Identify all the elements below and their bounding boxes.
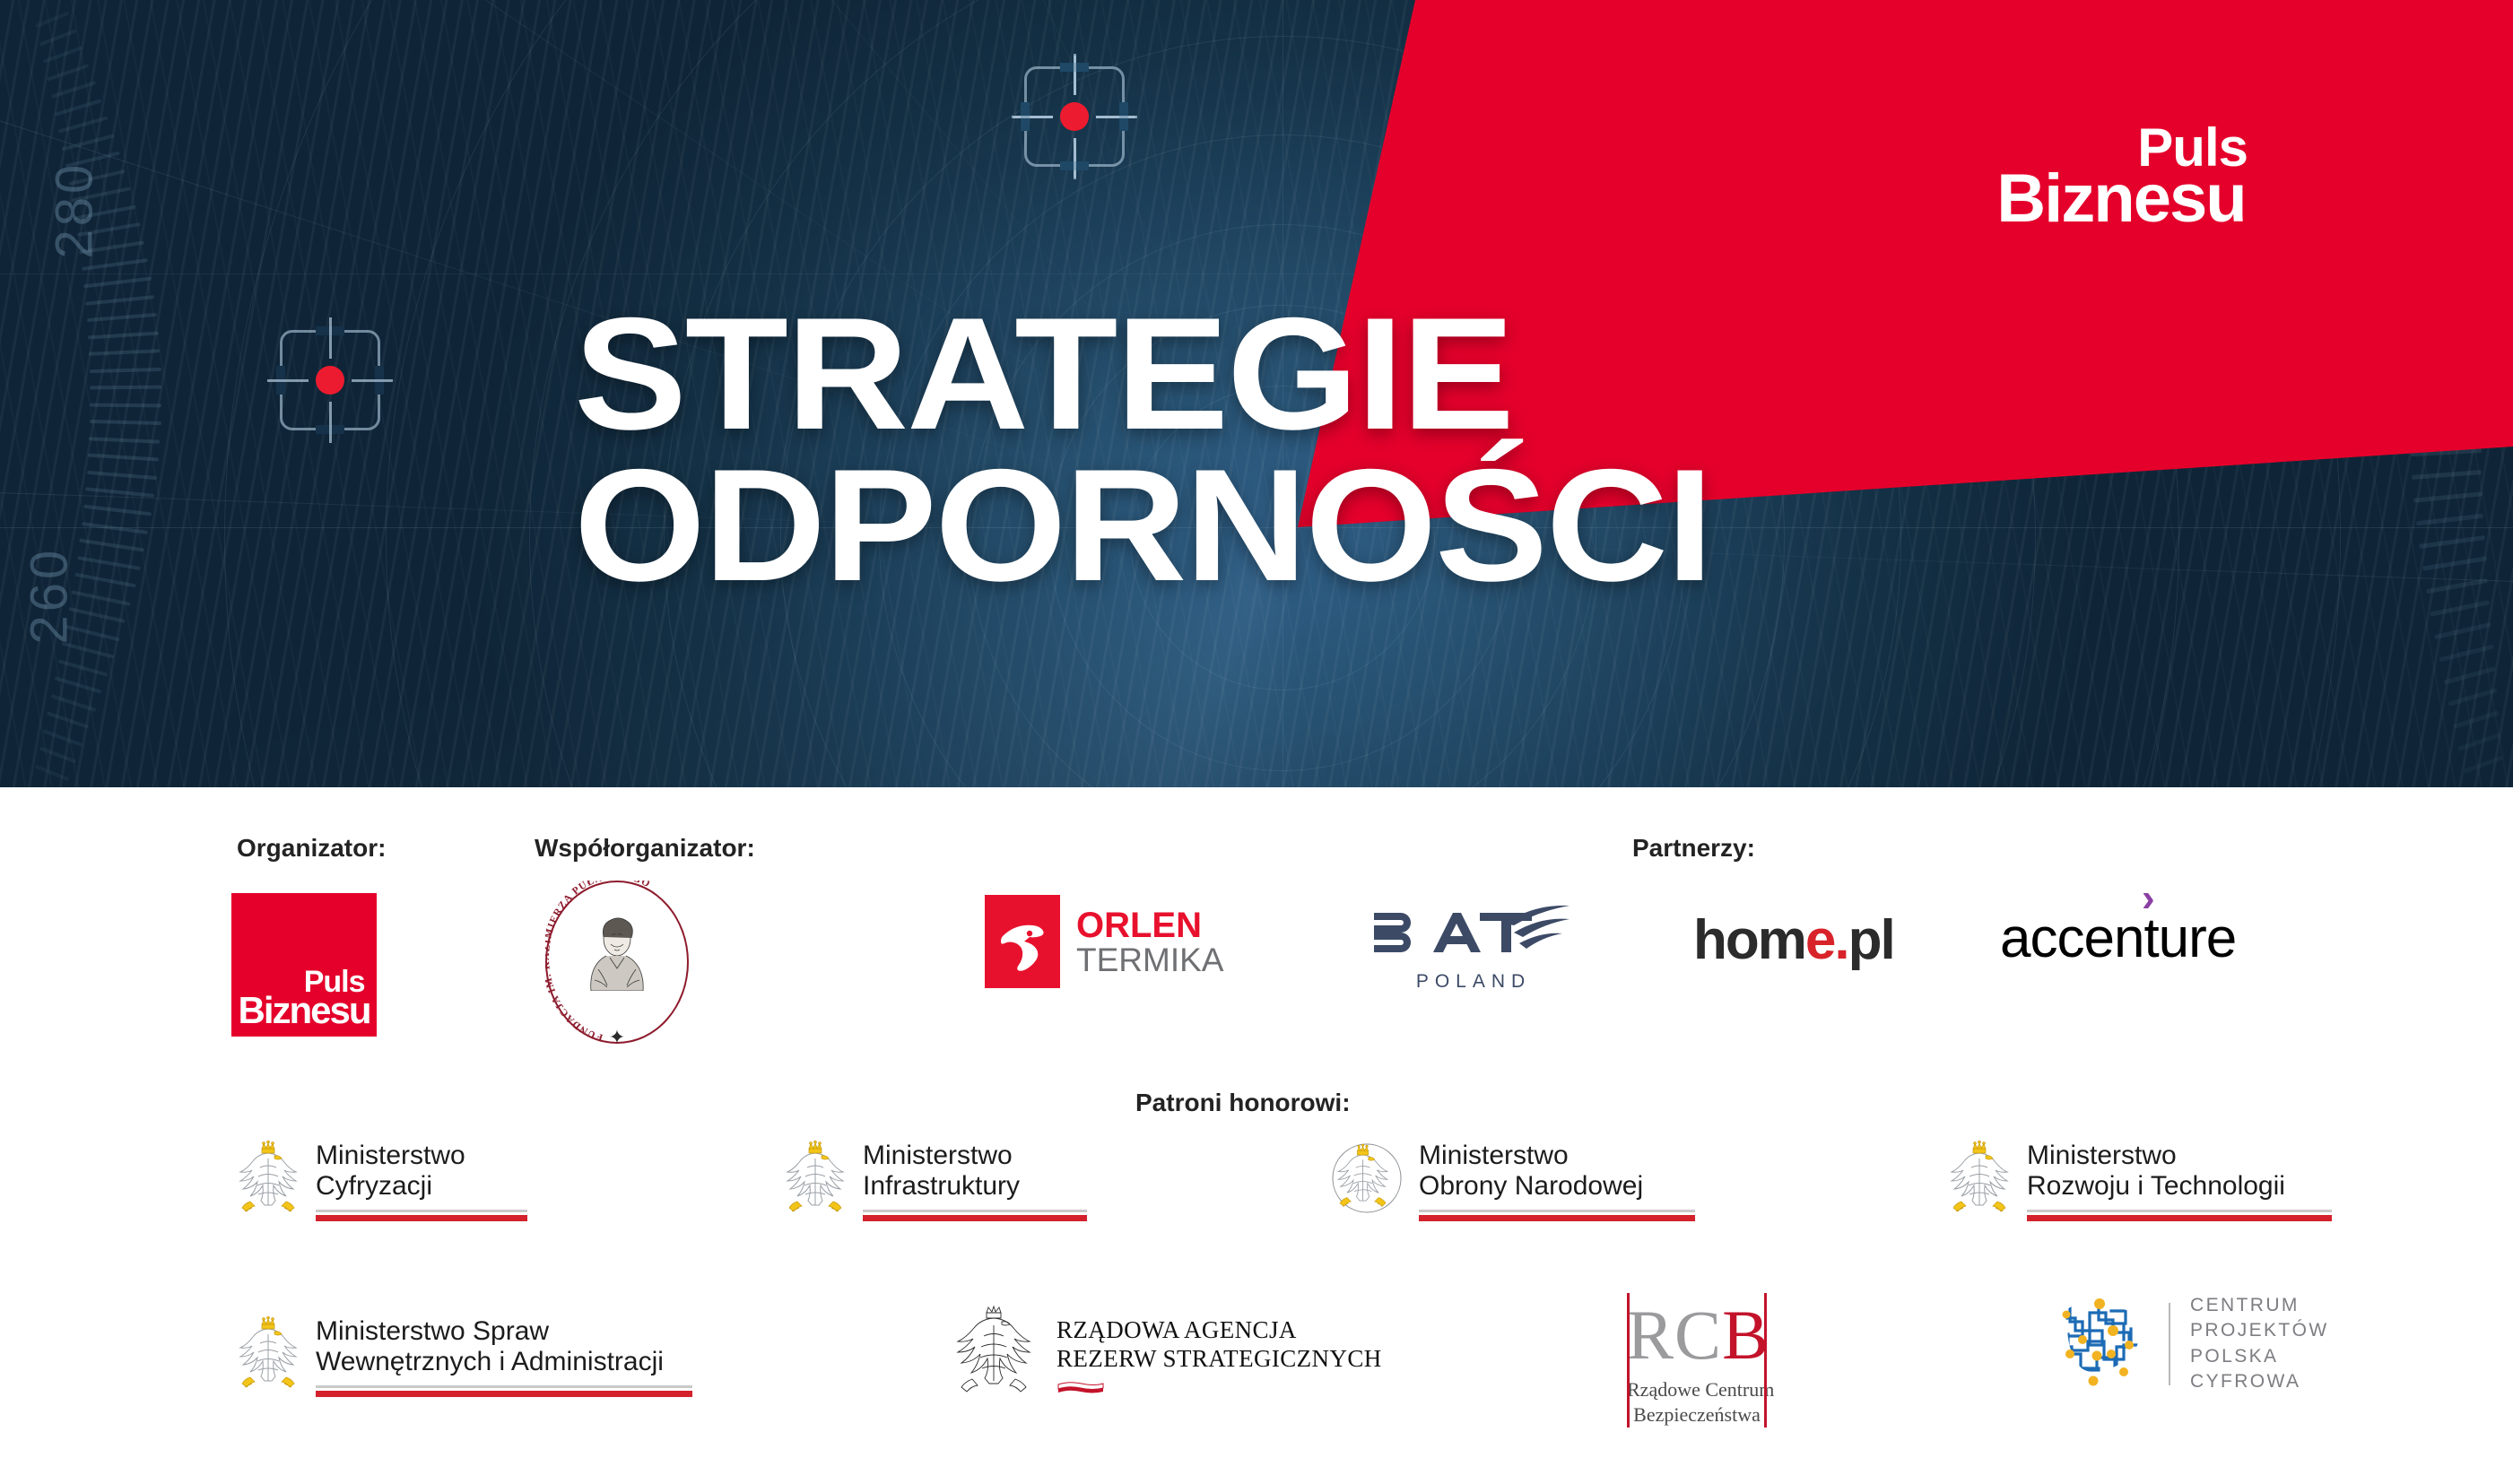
pb-logo-line2: Biznesu bbox=[238, 995, 370, 1026]
cppc-wordmark: CENTRUM PROJEKTÓW POLSKA CYFROWA bbox=[2190, 1293, 2329, 1394]
crosshair-reticle-icon bbox=[1024, 66, 1125, 167]
cppc-divider bbox=[2169, 1303, 2170, 1385]
event-banner-page: 280 260 bbox=[0, 0, 2513, 1484]
polish-flag-bars bbox=[863, 1210, 1087, 1221]
patron-name-line2: Obrony Narodowej bbox=[1419, 1171, 1695, 1202]
cppc-line1: CENTRUM bbox=[2190, 1293, 2329, 1318]
coorganizer-logo-fundacja-pulaskiego[interactable]: FUNDACJA IM. KAZIMIERZA PUŁASKIEGO ✦ bbox=[545, 881, 689, 1044]
label-coorganizer: Współorganizator: bbox=[535, 834, 755, 863]
polish-eagle-icon bbox=[782, 1139, 848, 1219]
rcb-subtitle-line2: Bezpieczeństwa bbox=[1627, 1402, 1767, 1428]
bat-poland-subtext: POLAND bbox=[1370, 971, 1577, 993]
patron-name-line2: Infrastruktury bbox=[863, 1171, 1087, 1202]
puls-biznesu-logo-line2: Biznesu bbox=[1982, 170, 2260, 228]
polish-flag-bars bbox=[1419, 1210, 1695, 1221]
pulaski-star-icon: ✦ bbox=[609, 1028, 625, 1047]
patron-logo-rars[interactable]: RZĄDOWA AGENCJA REZERW STRATEGICZNYCH bbox=[951, 1300, 1382, 1402]
cppc-line2: PROJEKTÓW bbox=[2190, 1318, 2329, 1343]
accenture-arrow-icon: › bbox=[2142, 879, 2155, 918]
rcb-subtitle-line1: Rządowe Centrum bbox=[1627, 1377, 1767, 1402]
event-title: STRATEGIE ODPORNOŚCI bbox=[574, 305, 2027, 594]
patron-logo-cppc[interactable]: CENTRUM PROJEKTÓW POLSKA CYFROWA bbox=[2052, 1291, 2329, 1396]
reticle-center-dot bbox=[1060, 102, 1089, 131]
cppc-line4: CYFROWA bbox=[2190, 1369, 2329, 1394]
rcb-left-rule bbox=[1627, 1293, 1630, 1428]
rcb-monogram-red: B bbox=[1722, 1296, 1770, 1374]
cppc-line3: POLSKA bbox=[2190, 1344, 2329, 1369]
organizer-logo-puls-biznesu[interactable]: Puls Biznesu bbox=[231, 893, 377, 1037]
rars-flag-icon bbox=[1057, 1380, 1105, 1394]
label-honorary-patrons: Patroni honorowi: bbox=[1135, 1089, 1351, 1117]
label-partners: Partnerzy: bbox=[1632, 834, 1755, 863]
patron-name-line1: Ministerstwo Spraw bbox=[316, 1316, 692, 1347]
rcb-monogram: RCB bbox=[1627, 1293, 1767, 1370]
compass-scale-right bbox=[2280, 0, 2513, 787]
crosshair-reticle-icon bbox=[280, 330, 380, 430]
termika-wordmark: TERMIKA bbox=[1076, 943, 1223, 976]
patron-logo-ministerstwo-infrastruktury[interactable]: Ministerstwo Infrastruktury bbox=[782, 1139, 1087, 1221]
pulaski-portrait-engraving bbox=[587, 914, 647, 991]
orlen-wordmark: ORLEN bbox=[1076, 907, 1223, 943]
rcb-monogram-gray: RC bbox=[1627, 1296, 1722, 1374]
sponsors-section: Organizator: Współorganizator: Partnerzy… bbox=[0, 787, 2513, 1484]
partner-logo-accenture[interactable]: › accenture bbox=[2000, 911, 2236, 967]
patron-name-line1: Ministerstwo bbox=[316, 1141, 527, 1171]
puls-biznesu-logo-hero: Puls Biznesu bbox=[1982, 126, 2260, 228]
patron-name-line1: Ministerstwo bbox=[1419, 1141, 1695, 1171]
patron-name-line2: Rozwoju i Technologii bbox=[2027, 1171, 2332, 1202]
label-organizer: Organizator: bbox=[237, 834, 386, 863]
patron-name-line1: Ministerstwo bbox=[863, 1141, 1087, 1171]
patron-logo-ministerstwo-spraw-wewnetrznych[interactable]: Ministerstwo Spraw Wewnętrznych i Admini… bbox=[235, 1315, 692, 1397]
homepl-part2: e. bbox=[1805, 909, 1848, 971]
compass-label-280: 280 bbox=[45, 107, 105, 259]
homepl-part3: pl bbox=[1848, 909, 1894, 971]
patron-logo-ministerstwo-rozwoju-i-technologii[interactable]: Ministerstwo Rozwoju i Technologii bbox=[1946, 1139, 2332, 1221]
bat-swoosh-icon bbox=[1370, 893, 1577, 963]
partner-logo-orlen-termika[interactable]: ORLEN TERMIKA bbox=[985, 895, 1223, 988]
reticle-center-dot bbox=[316, 366, 344, 395]
grid-line-horizontal bbox=[0, 273, 2513, 274]
polish-eagle-icon bbox=[235, 1139, 301, 1219]
orlen-eagle-mark bbox=[985, 895, 1060, 988]
accenture-wordmark: accenture bbox=[2000, 911, 2236, 967]
title-line-1: STRATEGIE bbox=[574, 305, 2114, 442]
rars-name-line2: REZERW STRATEGICZNYCH bbox=[1057, 1345, 1382, 1374]
patron-logo-ministerstwo-cyfryzacji[interactable]: Ministerstwo Cyfryzacji bbox=[235, 1139, 527, 1221]
rcb-subtitle: Rządowe Centrum Bezpieczeństwa bbox=[1627, 1377, 1767, 1427]
homepl-part1: hom bbox=[1693, 909, 1805, 971]
patron-name-line1: Ministerstwo bbox=[2027, 1141, 2332, 1171]
polish-flag-bars bbox=[316, 1385, 692, 1397]
rcb-right-rule bbox=[1764, 1293, 1767, 1428]
patron-logo-ministerstwo-obrony-narodowej[interactable]: Ministerstwo Obrony Narodowej bbox=[1329, 1139, 1695, 1221]
hero-banner: 280 260 bbox=[0, 0, 2513, 787]
polish-eagle-icon bbox=[235, 1315, 301, 1394]
polish-eagle-icon bbox=[1946, 1139, 2013, 1219]
title-line-2: ODPORNOŚCI bbox=[574, 456, 2114, 594]
cppc-circuit-poland-icon bbox=[2052, 1291, 2149, 1396]
partner-logo-home-pl[interactable]: home.pl bbox=[1693, 913, 1894, 968]
partner-logo-bat-poland[interactable]: POLAND bbox=[1370, 893, 1577, 993]
polish-flag-bars bbox=[316, 1210, 527, 1221]
rars-name-line1: RZĄDOWA AGENCJA bbox=[1057, 1316, 1382, 1345]
patron-name-line2: Wewnętrznych i Administracji bbox=[316, 1347, 692, 1377]
compass-label-260: 260 bbox=[20, 492, 80, 645]
patron-logo-rcb[interactable]: RCB Rządowe Centrum Bezpieczeństwa bbox=[1627, 1293, 1767, 1428]
polish-eagle-outline-icon bbox=[951, 1300, 1037, 1402]
polish-eagle-circled-icon bbox=[1329, 1139, 1404, 1219]
patron-name-line2: Cyfryzacji bbox=[316, 1171, 527, 1202]
polish-flag-bars bbox=[2027, 1210, 2332, 1221]
compass-scale-left: 280 260 bbox=[0, 0, 287, 787]
